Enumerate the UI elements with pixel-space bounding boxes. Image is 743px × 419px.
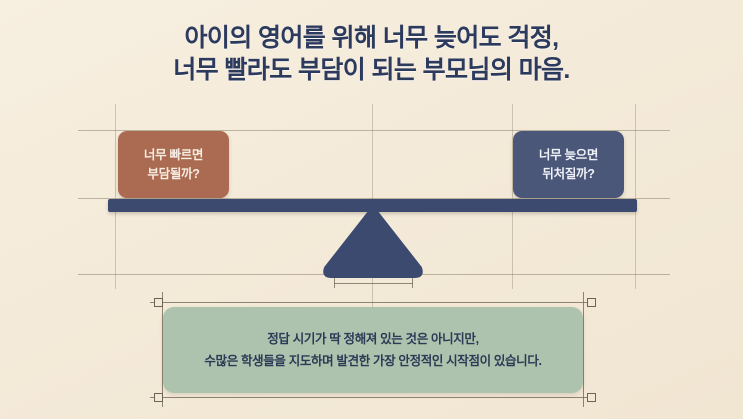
left-concern-line-1: 너무 빠르면: [144, 146, 203, 165]
selection-handle-top-left[interactable]: [154, 298, 163, 307]
left-concern-line-2: 부담될까?: [147, 165, 199, 184]
selection-handle-bottom-left[interactable]: [154, 393, 163, 402]
right-concern-line-1: 너무 늦으면: [539, 146, 598, 165]
selection-frame-bottom: [150, 397, 595, 398]
measurement-tick-left: [334, 278, 335, 288]
measurement-bracket: [334, 278, 413, 288]
slide-title: 아이의 영어를 위해 너무 늦어도 걱정, 너무 빨라도 부담이 되는 부모님의…: [0, 22, 743, 86]
measurement-tick-right: [412, 278, 413, 288]
slide-canvas: 아이의 영어를 위해 너무 늦어도 걱정, 너무 빨라도 부담이 되는 부모님의…: [0, 0, 743, 419]
selection-frame-top: [150, 302, 595, 303]
conclusion-line-2: 수많은 학생들을 지도하며 발견한 가장 안정적인 시작점이 있습니다.: [204, 350, 541, 372]
right-concern-line-2: 뒤처질까?: [542, 165, 594, 184]
fulcrum-triangle-icon: [322, 206, 424, 278]
right-concern-box: 너무 늦으면 뒤처질까?: [513, 131, 624, 198]
conclusion-line-1: 정답 시기가 딱 정해져 있는 것은 아니지만,: [267, 328, 478, 350]
selection-handle-top-right[interactable]: [587, 298, 596, 307]
measurement-bar: [334, 283, 413, 284]
left-concern-box: 너무 빠르면 부담될까?: [118, 131, 229, 198]
conclusion-message-box: 정답 시기가 딱 정해져 있는 것은 아니지만, 수많은 학생들을 지도하며 발…: [163, 307, 583, 393]
selection-frame-right: [583, 292, 584, 407]
guide-line-vertical-right: [635, 104, 636, 289]
title-line-1: 아이의 영어를 위해 너무 늦어도 걱정,: [0, 22, 743, 54]
title-line-2: 너무 빨라도 부담이 되는 부모님의 마음.: [0, 54, 743, 86]
guide-line-vertical-mid-right: [512, 104, 513, 289]
selection-handle-bottom-right[interactable]: [587, 393, 596, 402]
guide-line-vertical-left: [115, 104, 116, 289]
